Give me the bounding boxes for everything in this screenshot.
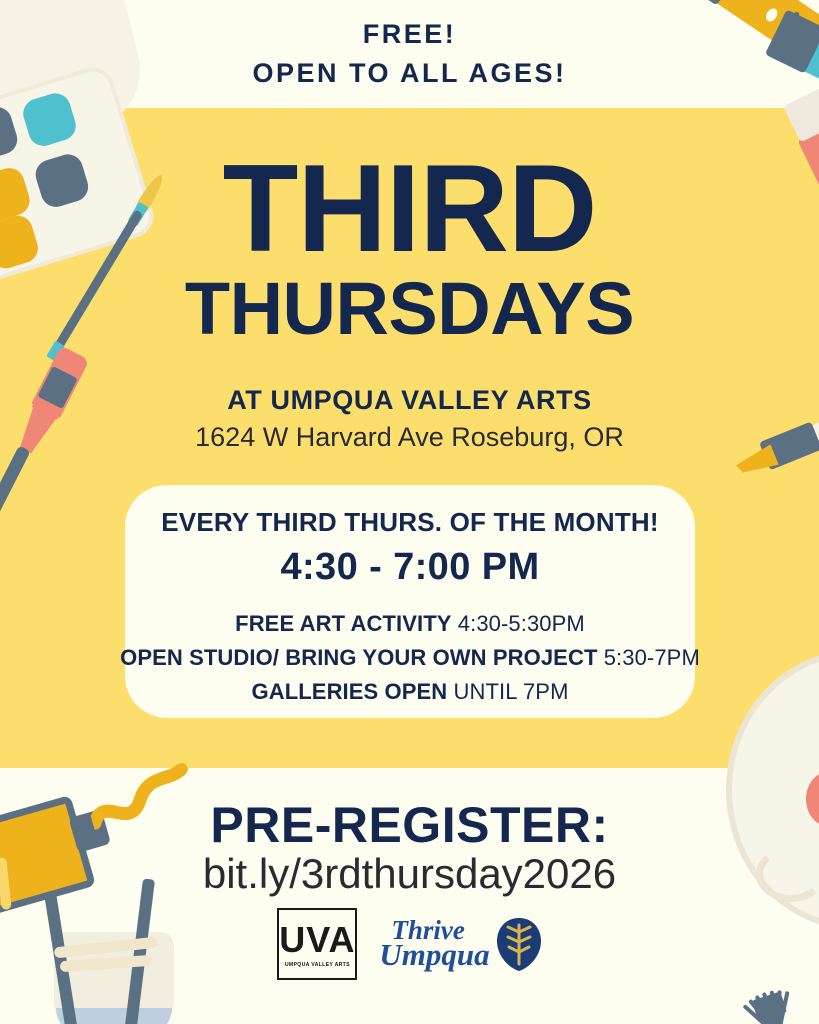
wheat-leaf-icon (496, 916, 542, 972)
header-free-text: FREE! (363, 19, 457, 50)
list-item: GALLERIES OPEN UNTIL 7PM (120, 679, 700, 705)
detail-label: OPEN STUDIO/ BRING YOUR OWN PROJECT (120, 645, 597, 670)
registration-link[interactable]: bit.ly/3rdthursday2026 (0, 850, 819, 898)
uva-logo-subtitle: UMPQUA VALLEY ARTS (285, 962, 350, 968)
page-title-sub: THURSDAYS (0, 272, 819, 346)
detail-value: UNTIL 7PM (454, 679, 569, 704)
detail-label: FREE ART ACTIVITY (235, 611, 451, 636)
poster-content: FREE! OPEN TO ALL AGES! THIRD THURSDAYS … (0, 0, 819, 1024)
venue-name: AT UMPQUA VALLEY ARTS (0, 385, 819, 416)
thrive-logo-wordmark: Thrive Umpqua (379, 919, 489, 969)
detail-value: 5:30-7PM (604, 645, 700, 670)
schedule-frequency: EVERY THIRD THURS. OF THE MONTH! (161, 507, 659, 538)
page-title-main: THIRD (0, 152, 819, 266)
schedule-detail-list: FREE ART ACTIVITY 4:30-5:30PM OPEN STUDI… (120, 611, 700, 705)
thrive-logo-word2: Umpqua (379, 942, 489, 969)
header-all-ages-text: OPEN TO ALL AGES! (252, 58, 566, 89)
logo-row: UVA UMPQUA VALLEY ARTS Thrive Umpqua (0, 908, 819, 980)
list-item: FREE ART ACTIVITY 4:30-5:30PM (120, 611, 700, 637)
thrive-umpqua-logo[interactable]: Thrive Umpqua (379, 916, 541, 972)
list-item: OPEN STUDIO/ BRING YOUR OWN PROJECT 5:30… (120, 645, 700, 671)
pre-register-heading: PRE-REGISTER: (0, 796, 819, 854)
header-banner: FREE! OPEN TO ALL AGES! (0, 0, 819, 108)
uva-logo[interactable]: UVA UMPQUA VALLEY ARTS (277, 908, 357, 980)
detail-value: 4:30-5:30PM (458, 611, 585, 636)
poster-canvas: FREE! OPEN TO ALL AGES! THIRD THURSDAYS … (0, 0, 819, 1024)
schedule-time-range: 4:30 - 7:00 PM (280, 546, 539, 589)
detail-label: GALLERIES OPEN (252, 679, 448, 704)
venue-address: 1624 W Harvard Ave Roseburg, OR (0, 422, 819, 453)
uva-logo-mark: UVA (279, 922, 355, 958)
schedule-card: EVERY THIRD THURS. OF THE MONTH! 4:30 - … (125, 485, 695, 718)
